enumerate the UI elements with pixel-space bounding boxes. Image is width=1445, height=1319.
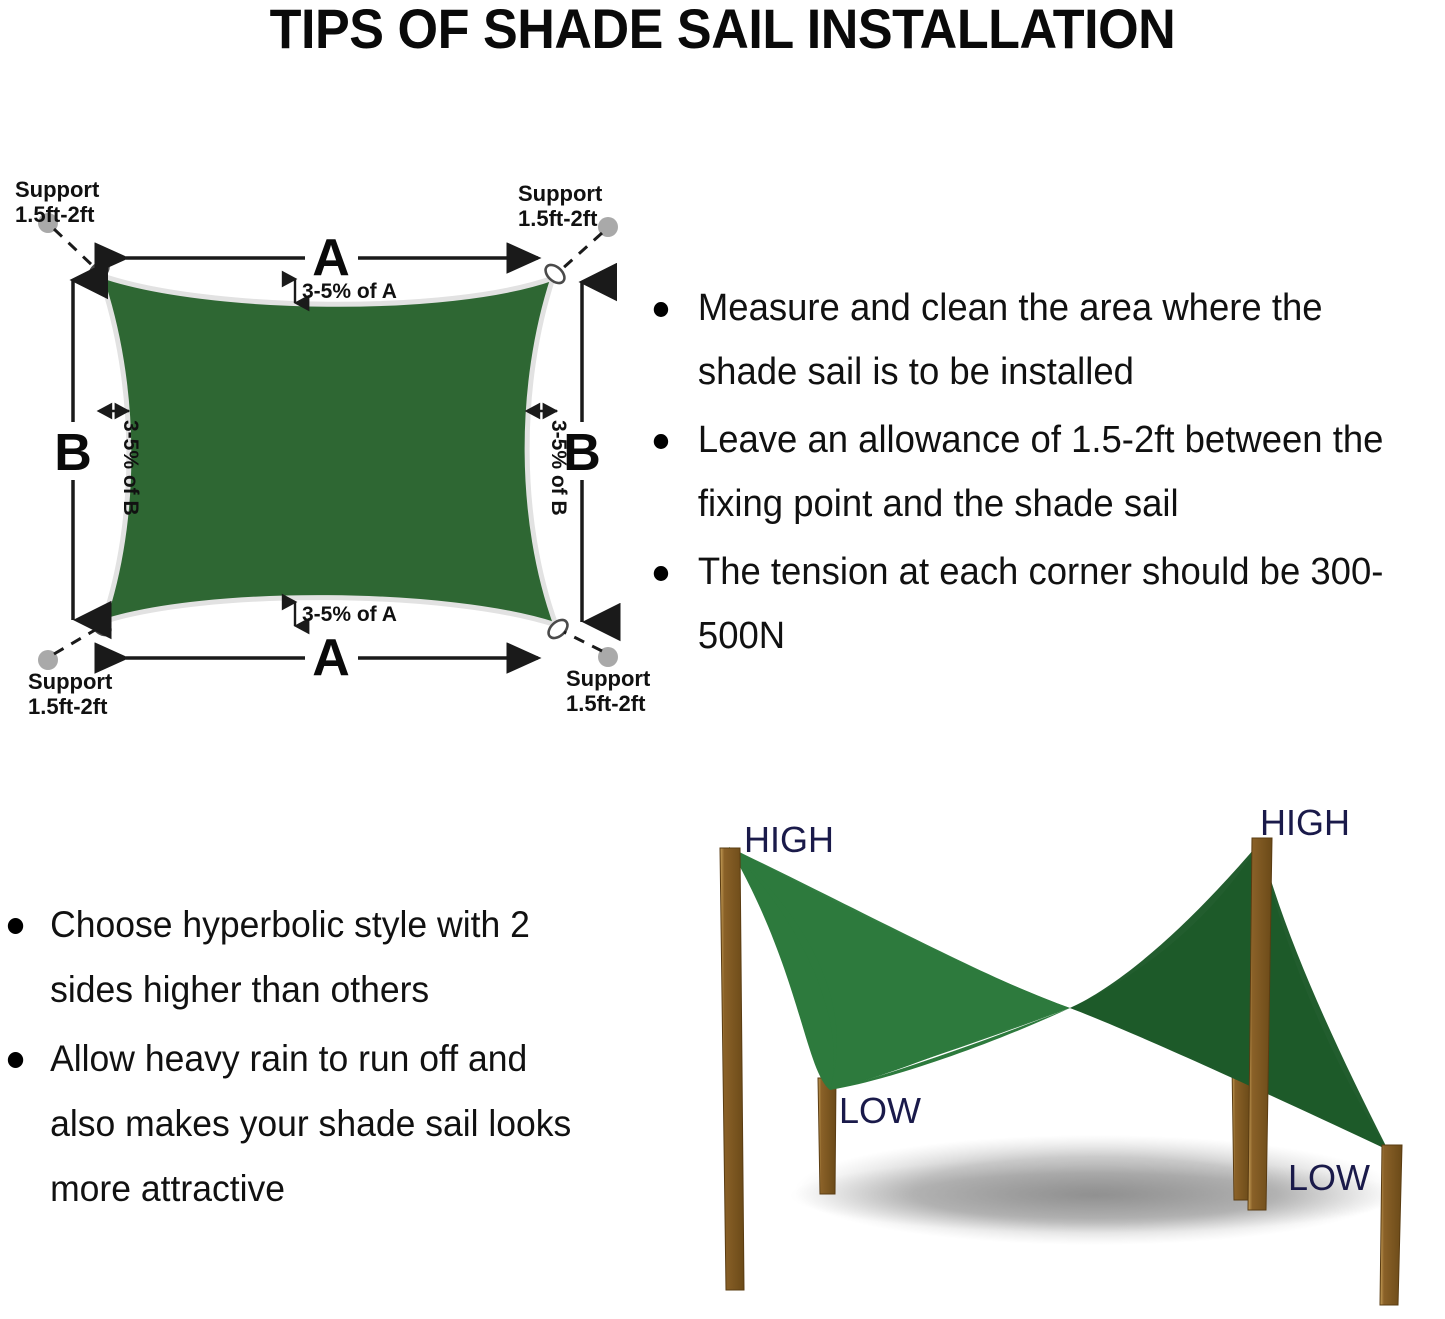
sail-saddle-light [729,847,1070,1090]
label-high-right: HIGH [1260,802,1350,843]
list-item: Measure and clean the area where the sha… [648,276,1416,404]
sail-saddle-dark [1070,842,1388,1150]
curve-note-right: 3-5% of B [527,411,570,516]
post-low-left [818,1078,836,1194]
curve-note-right-label: 3-5% of B [547,420,570,516]
list-item: Choose hyperbolic style with 2 sides hig… [4,892,599,1022]
post-low-right [1380,1145,1402,1305]
label-low-right: LOW [1288,1157,1370,1198]
support-label-top-left-line1: Support [15,177,100,202]
post-high-left [720,848,744,1290]
dimension-label-b-left: B [54,424,92,482]
sail-shape [100,275,556,625]
dimension-label-a-bottom: A [312,629,350,687]
support-label-bottom-right-line2: 1.5ft-2ft [566,691,646,716]
list-item: Leave an allowance of 1.5-2ft between th… [648,408,1416,536]
support-label-top-right-line2: 1.5ft-2ft [518,206,598,231]
list-item: The tension at each corner should be 300… [648,540,1416,668]
rectangular-shade-sail-dimension-diagram: Support 1.5ft-2ft Support 1.5ft-2ft Supp… [0,170,650,730]
curve-note-bottom-label: 3-5% of A [302,603,397,626]
support-label-bottom-right-line1: Support [566,666,650,691]
label-low-left: LOW [839,1090,921,1131]
hyperbolic-shade-sail-illustration: HIGH HIGH LOW LOW [640,790,1445,1319]
curve-note-left-label: 3-5% of B [119,420,142,516]
infographic-page: TIPS OF SHADE SAIL INSTALLATION [0,0,1445,1319]
curve-note-top: 3-5% of A [295,279,397,303]
curve-note-top-label: 3-5% of A [302,280,397,303]
page-title: TIPS OF SHADE SAIL INSTALLATION [51,0,1395,60]
curve-note-bottom: 3-5% of A [295,602,397,626]
tips-list-bottom: Choose hyperbolic style with 2 sides hig… [4,892,624,1225]
support-label-bottom-left-line1: Support [28,669,113,694]
tips-list-top: Measure and clean the area where the sha… [648,276,1445,672]
support-label-top-right-line1: Support [518,181,603,206]
curve-note-left: 3-5% of B [99,411,142,516]
dimension-label-a-top: A [312,229,350,287]
support-label-bottom-left-line2: 1.5ft-2ft [28,694,108,719]
list-item: Allow heavy rain to run off and also mak… [4,1026,599,1221]
support-label-top-left-line2: 1.5ft-2ft [15,202,95,227]
label-high-left: HIGH [744,819,834,860]
